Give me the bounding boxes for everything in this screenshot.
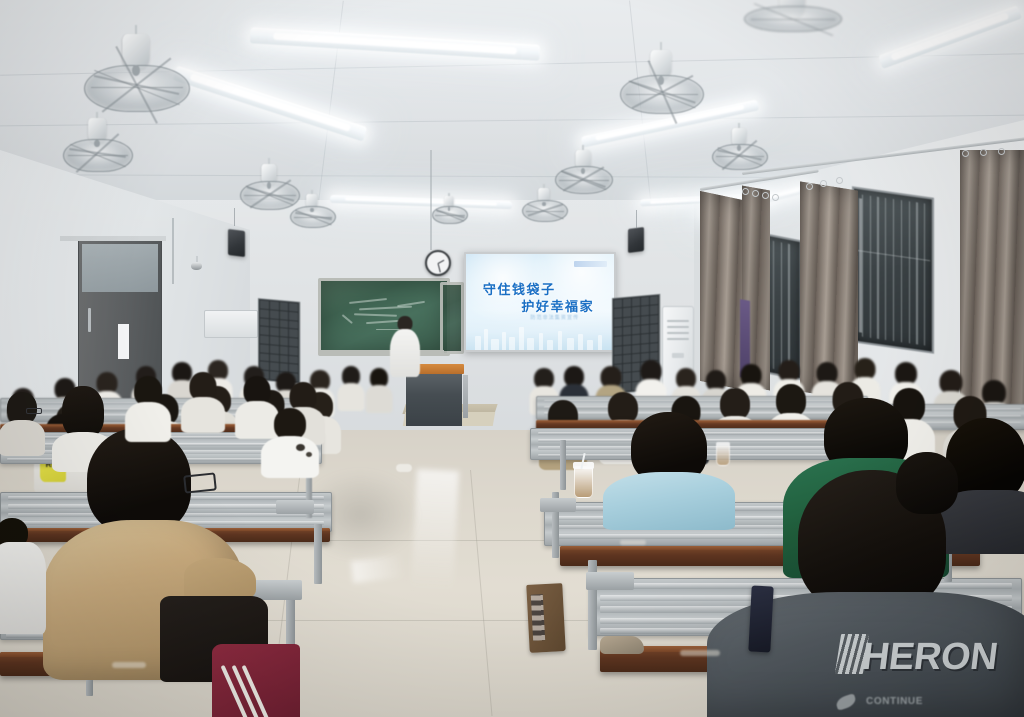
wall-speaker bbox=[628, 227, 644, 253]
green-chalkboard-side bbox=[440, 282, 464, 354]
ceiling-fan bbox=[432, 196, 466, 224]
seated-student bbox=[0, 518, 48, 630]
bench-leg bbox=[560, 440, 566, 490]
cup-lid bbox=[573, 462, 594, 469]
bench-armrest bbox=[276, 500, 314, 514]
seated-student bbox=[0, 392, 44, 452]
door-handle[interactable] bbox=[88, 308, 91, 332]
seated-student-heron-tee bbox=[700, 470, 1024, 717]
speaker-wire bbox=[636, 210, 637, 228]
wall-clock bbox=[425, 250, 451, 276]
curtain-ring bbox=[836, 177, 843, 184]
green-chalkboard bbox=[318, 278, 450, 356]
door-transom-window bbox=[82, 244, 157, 292]
barred-window bbox=[852, 186, 934, 354]
lecture-hall-photo: 守住钱袋子 护好幸福家 防范非法集资宣传 bbox=[0, 0, 1024, 717]
ceiling-fan bbox=[712, 128, 766, 170]
desk-debris bbox=[620, 540, 646, 545]
slide-logo-badge bbox=[574, 261, 607, 268]
seated-student bbox=[182, 372, 224, 430]
desk-debris bbox=[112, 662, 146, 668]
presenter-at-podium bbox=[388, 316, 422, 378]
ceiling-fan bbox=[555, 150, 611, 194]
conduit-pipe bbox=[172, 218, 174, 284]
seated-student bbox=[882, 452, 972, 518]
seated-student bbox=[126, 376, 170, 438]
projector-screen-frame: 守住钱袋子 护好幸福家 防范非法集资宣传 bbox=[464, 252, 616, 352]
slide-headline-line1: 守住钱袋子 bbox=[466, 279, 593, 298]
bench-armrest bbox=[540, 498, 576, 512]
ceiling-fan bbox=[63, 118, 131, 172]
seated-student bbox=[262, 408, 318, 474]
curtain-ring bbox=[998, 148, 1005, 155]
door-frame-header bbox=[60, 236, 166, 241]
podium-side bbox=[463, 375, 468, 418]
iced-drink-cup bbox=[574, 466, 593, 498]
student-head bbox=[87, 428, 191, 534]
chalk-tray bbox=[318, 350, 444, 354]
iced-drink-cup bbox=[716, 444, 730, 466]
curtain-ring bbox=[806, 183, 813, 190]
heron-tee-text: HERON bbox=[859, 636, 1024, 679]
eyeglasses bbox=[183, 472, 217, 493]
slide-subtitle: 防范非法集资宣传 bbox=[481, 314, 614, 321]
shoe bbox=[396, 464, 412, 472]
security-camera bbox=[191, 262, 202, 270]
smartphone[interactable] bbox=[748, 585, 773, 652]
curtain-ring bbox=[752, 190, 759, 197]
slide-headline-line2: 护好幸福家 bbox=[484, 296, 614, 315]
speaker-wire bbox=[234, 208, 235, 226]
eyeglasses bbox=[26, 408, 42, 414]
ceiling-fan bbox=[620, 50, 702, 114]
curtain-ring bbox=[772, 194, 779, 201]
shoe bbox=[600, 636, 644, 654]
curtain-ring bbox=[980, 149, 987, 156]
door-notice bbox=[118, 324, 129, 359]
projector-screen: 守住钱袋子 护好幸福家 防范非法集资宣传 bbox=[466, 254, 614, 350]
curtain-ring bbox=[762, 192, 769, 199]
tote-bag bbox=[526, 583, 566, 653]
curtain-ring bbox=[820, 180, 827, 187]
presenter-torso bbox=[390, 329, 420, 377]
wall-speaker bbox=[228, 229, 245, 257]
conduit-pipe bbox=[430, 150, 432, 250]
wall-box bbox=[204, 310, 258, 338]
student-shorts bbox=[212, 644, 300, 717]
podium-body bbox=[406, 374, 461, 426]
curtain-ring bbox=[962, 150, 969, 157]
curtain-ring bbox=[742, 188, 749, 195]
heron-tee-subtext: CONTINUE bbox=[866, 696, 1006, 707]
ceiling-fan bbox=[744, 0, 840, 32]
bench-leg bbox=[314, 524, 322, 584]
desk-debris bbox=[680, 650, 720, 656]
ceiling-fan bbox=[290, 194, 334, 228]
ceiling-fan bbox=[84, 34, 188, 112]
bench-armrest bbox=[586, 572, 634, 590]
